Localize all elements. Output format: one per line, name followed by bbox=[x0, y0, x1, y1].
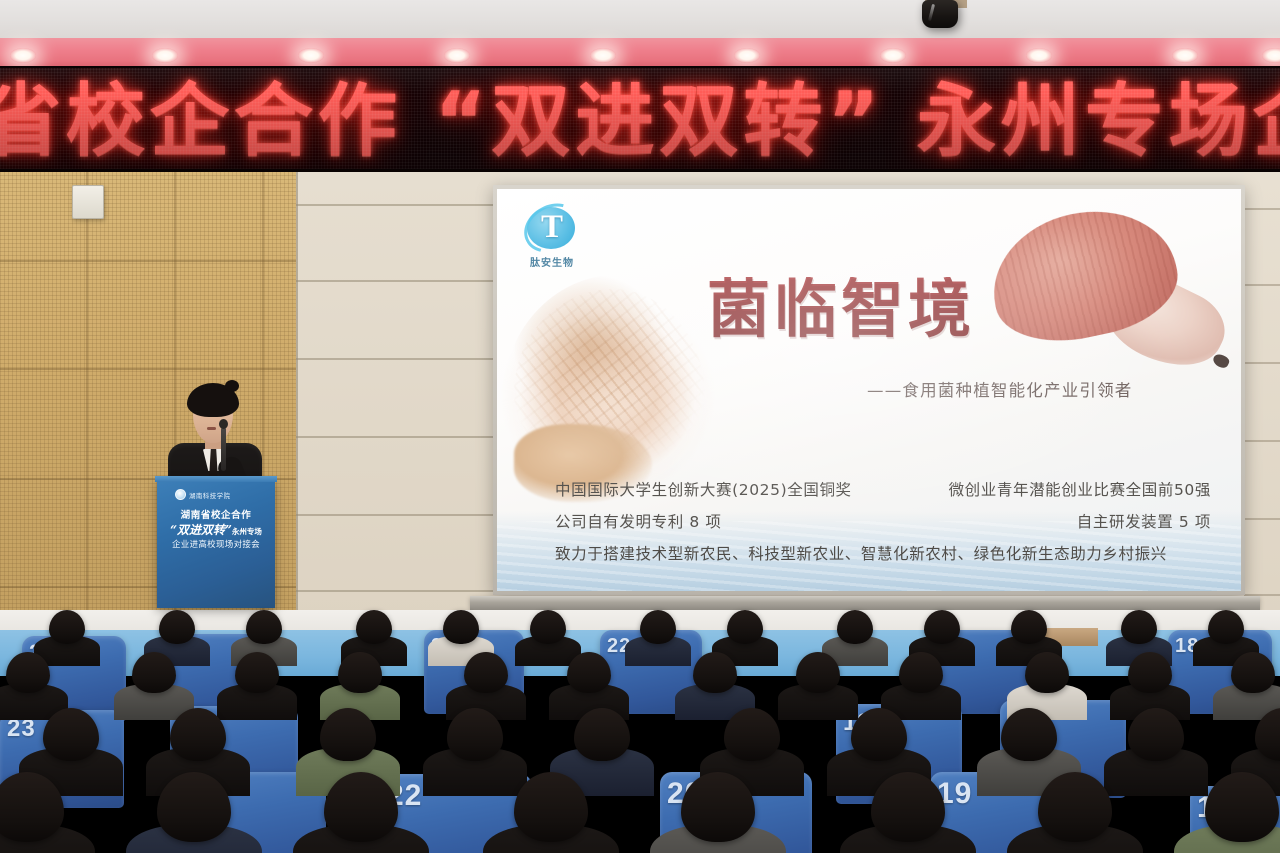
institution-name: 湖南科技学院 bbox=[189, 490, 230, 500]
audience-member-head bbox=[1001, 708, 1057, 761]
slide-title: 菌临智境 bbox=[707, 277, 1137, 344]
audience-member-head bbox=[567, 652, 611, 693]
bullet-row: 公司自有发明专利 8 项 自主研发装置 5 项 bbox=[497, 510, 1241, 542]
logo-company-name: 肽安生物 bbox=[515, 254, 589, 269]
smooth-wall-panels bbox=[296, 172, 500, 624]
downlight bbox=[1172, 48, 1198, 63]
audience-member-head bbox=[727, 610, 763, 644]
audience-member-head bbox=[1208, 610, 1244, 644]
mushroom-illustration-left bbox=[501, 275, 723, 507]
led-banner-text: 省校企合作 “双进双转” 永州专场企 bbox=[0, 71, 1280, 171]
audience-member-head bbox=[851, 708, 907, 761]
bullet-left-1: 中国国际大学生创新大赛(2025)全国铜奖 bbox=[555, 478, 852, 500]
audience-member-head bbox=[43, 708, 99, 761]
audience-member-head bbox=[246, 610, 282, 644]
ceiling bbox=[0, 0, 1280, 40]
audience-member-head bbox=[49, 610, 85, 644]
audience-member-head bbox=[338, 652, 382, 693]
logo-letter: T bbox=[523, 205, 581, 249]
audience-member-head bbox=[1011, 610, 1047, 644]
bullet-right-1: 微创业青年潜能创业比赛全国前50强 bbox=[949, 478, 1211, 500]
audience-member-head bbox=[574, 708, 630, 761]
slide-bullets: 中国国际大学生创新大赛(2025)全国铜奖 微创业青年潜能创业比赛全国前50强 … bbox=[497, 478, 1241, 574]
slide-subtitle: ——食用菌种植智能化产业引领者 bbox=[867, 377, 1133, 401]
audience-member-head bbox=[320, 708, 376, 761]
audience-member-head bbox=[530, 610, 566, 644]
downlight bbox=[298, 48, 324, 63]
wall-mounted-box bbox=[72, 185, 104, 219]
audience-member-head bbox=[159, 610, 195, 644]
podium-line-2-main: “双进双转” bbox=[170, 523, 232, 537]
audience-member-head bbox=[447, 708, 503, 761]
audience-member-head bbox=[1231, 652, 1275, 693]
audience-member-head bbox=[924, 610, 960, 644]
audience-member-head bbox=[1128, 652, 1172, 693]
audience-member-head bbox=[464, 652, 508, 693]
bullet-left-2: 公司自有发明专利 8 项 bbox=[555, 510, 721, 532]
right-wall-panels bbox=[1244, 172, 1280, 624]
podium-institution-logo: 湖南科技学院 bbox=[175, 489, 230, 500]
audience-member-head bbox=[837, 610, 873, 644]
podium-line-3: 企业进高校现场对接会 bbox=[157, 538, 275, 550]
podium-line-2-small: 永州专场 bbox=[232, 527, 262, 536]
audience-member-head bbox=[6, 652, 50, 693]
audience-member-head bbox=[443, 610, 479, 644]
downlight bbox=[444, 48, 470, 63]
bullet-right-2: 自主研发装置 5 项 bbox=[1077, 510, 1211, 532]
downlight bbox=[1026, 48, 1052, 63]
audience-member-head bbox=[356, 610, 392, 644]
projection-screen: T 肽安生物 菌临智境 ——食用菌种植智能化产业引领者 中国国际大学生创新大赛(… bbox=[497, 189, 1241, 591]
bullet-row: 中国国际大学生创新大赛(2025)全国铜奖 微创业青年潜能创业比赛全国前50强 bbox=[497, 478, 1241, 510]
slide-tagline: 致力于搭建技术型新农民、科技型新农业、智慧化新农村、绿色化新生态助力乡村振兴 bbox=[555, 542, 1167, 564]
downlight bbox=[880, 48, 906, 63]
institution-emblem-icon bbox=[175, 489, 186, 500]
conference-hall-photo: 省校企合作 “双进双转” 永州专场企 bbox=[0, 0, 1280, 853]
downlight bbox=[734, 48, 760, 63]
podium: 湖南科技学院 湖南省校企合作 “双进双转”永州专场 企业进高校现场对接会 bbox=[157, 480, 275, 608]
downlight bbox=[10, 48, 36, 63]
audience-member-head bbox=[693, 652, 737, 693]
audience-member-head bbox=[1128, 708, 1184, 761]
led-banner: 省校企合作 “双进双转” 永州专场企 bbox=[0, 66, 1280, 172]
audience-seating: 262523222018232219182322201919 bbox=[0, 600, 1280, 853]
audience-member-head bbox=[640, 610, 676, 644]
logo-mark-icon: T bbox=[523, 203, 581, 253]
downlight bbox=[590, 48, 616, 63]
downlight bbox=[152, 48, 178, 63]
audience-member-head bbox=[1025, 652, 1069, 693]
podium-line-2: “双进双转”永州专场 bbox=[157, 521, 275, 538]
audience-member-head bbox=[235, 652, 279, 693]
audience-member-head bbox=[170, 708, 226, 761]
projection-screen-frame: T 肽安生物 菌临智境 ——食用菌种植智能化产业引领者 中国国际大学生创新大赛(… bbox=[493, 185, 1245, 595]
podium-line-1: 湖南省校企合作 bbox=[157, 507, 275, 521]
bullet-row: 致力于搭建技术型新农民、科技型新农业、智慧化新农村、绿色化新生态助力乡村振兴 bbox=[497, 542, 1241, 574]
audience-member-head bbox=[899, 652, 943, 693]
audience-member-head bbox=[724, 708, 780, 761]
ceiling-light-cove bbox=[0, 38, 1280, 68]
company-logo: T 肽安生物 bbox=[515, 203, 589, 269]
audience-member-head bbox=[796, 652, 840, 693]
audience-member-head bbox=[1121, 610, 1157, 644]
audience-member-head bbox=[132, 652, 176, 693]
ceiling-projector-icon bbox=[922, 0, 958, 28]
microphone-icon bbox=[221, 427, 226, 471]
